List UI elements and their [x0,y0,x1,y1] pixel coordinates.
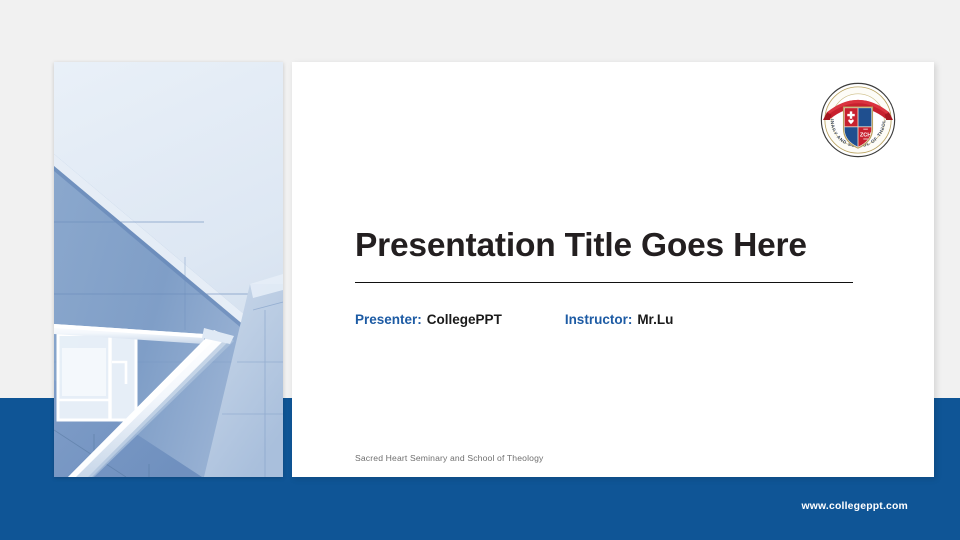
card-footer-text: Sacred Heart Seminary and School of Theo… [355,453,543,463]
presenter-value: CollegePPT [427,312,502,327]
slide-card: SEMINARY AND SCHOOL OF THEOLOGY SACRED H… [292,62,934,477]
sacred-heart-seal-icon: SEMINARY AND SCHOOL OF THEOLOGY SACRED H… [820,82,896,158]
presenter-label: Presenter: [355,312,422,327]
credits-row: Presenter: CollegePPT Instructor: Mr.Lu [355,312,673,327]
presenter-group: Presenter: CollegePPT [355,312,502,327]
instructor-group: Instructor: Mr.Lu [565,312,674,327]
title-block: Presentation Title Goes Here [355,227,855,283]
page-title: Presentation Title Goes Here [355,227,855,265]
title-divider [355,282,853,283]
architecture-photo [54,62,283,477]
slide-canvas: SEMINARY AND SCHOOL OF THEOLOGY SACRED H… [0,0,960,540]
instructor-label: Instructor: [565,312,633,327]
instructor-value: Mr.Lu [637,312,673,327]
site-url: www.collegeppt.com [801,501,908,512]
